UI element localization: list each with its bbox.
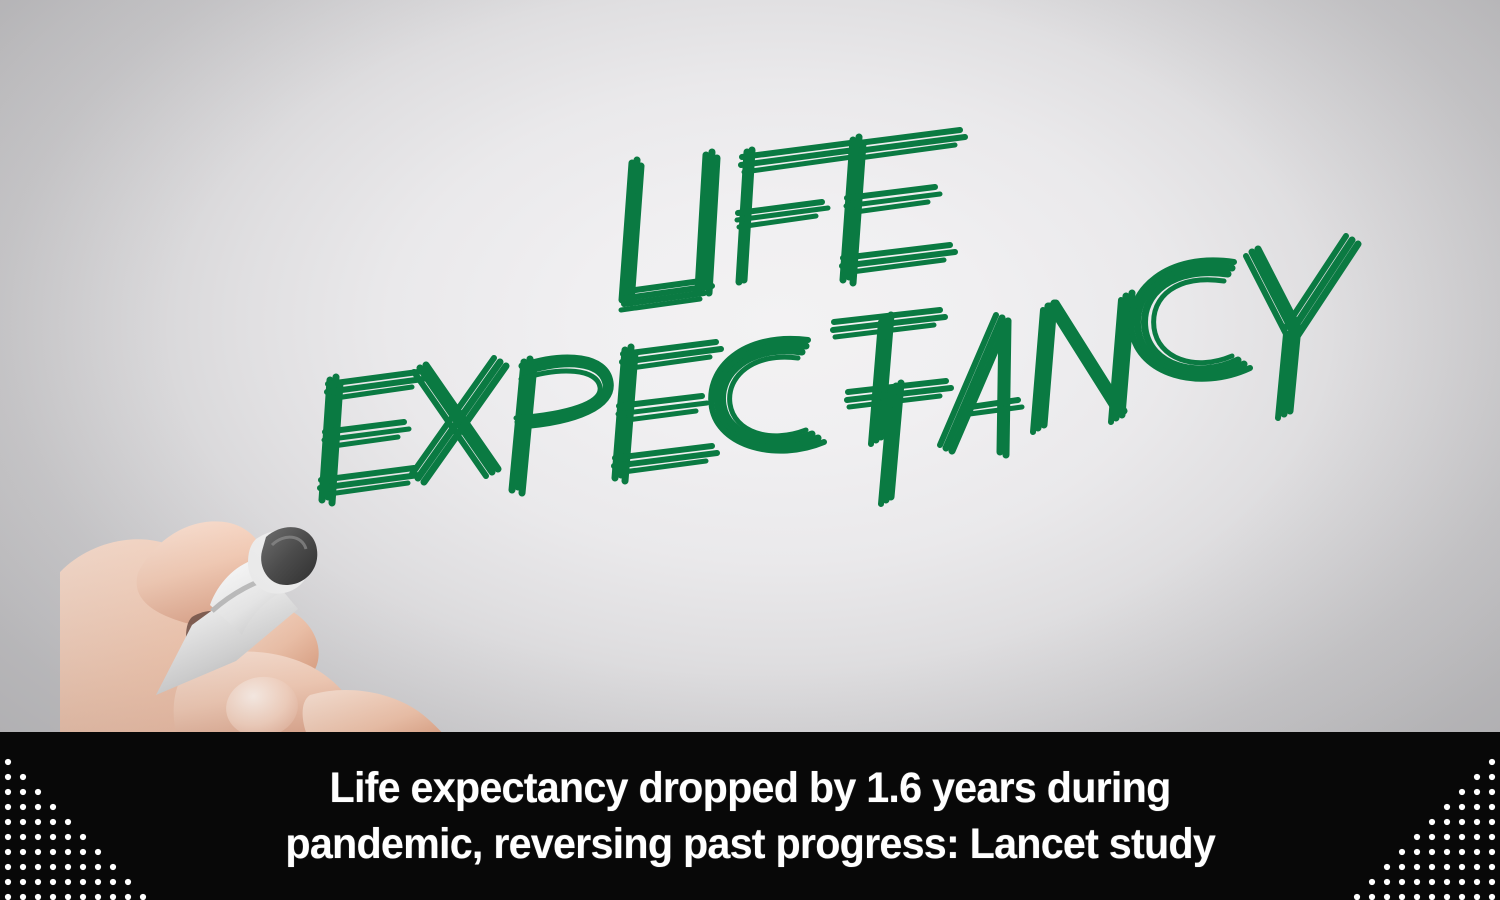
marker-tip-highlight (272, 537, 306, 549)
dot-pattern-right (1350, 732, 1500, 900)
headline-line-1: Life expectancy dropped by 1.6 years dur… (329, 762, 1170, 814)
headline-banner: Life expectancy dropped by 1.6 years dur… (0, 732, 1500, 900)
middle-finger (174, 651, 357, 732)
marker-cone (210, 557, 298, 635)
dot-pattern-left (0, 732, 150, 900)
index-finger (137, 521, 266, 625)
headline-text-block: Life expectancy dropped by 1.6 years dur… (150, 732, 1350, 900)
handwritten-life-expectancy (0, 0, 1500, 732)
marker-barrel (156, 571, 298, 695)
fingernail (222, 672, 302, 732)
marker-nib-holder (248, 531, 311, 594)
palm (60, 539, 412, 732)
headline-line-2: pandemic, reversing past progress: Lance… (285, 818, 1215, 870)
news-card: Life expectancy dropped by 1.6 years dur… (0, 0, 1500, 900)
whiteboard-photo (0, 0, 1500, 732)
hand-with-marker (60, 445, 480, 732)
finger-shadow (186, 611, 244, 664)
ring-finger (303, 690, 452, 732)
marker-collar-ring (212, 575, 282, 611)
marker-tip (261, 527, 317, 585)
thumb (217, 601, 318, 690)
